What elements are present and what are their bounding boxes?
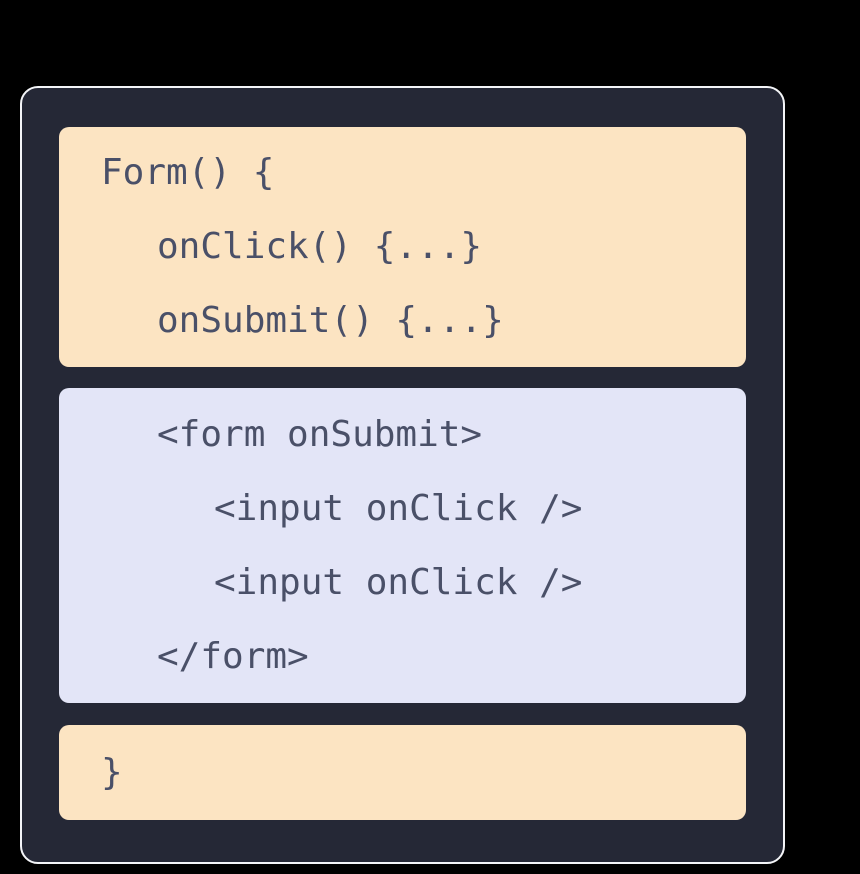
- component-card: Form() { onClick() {...} onSubmit() {...…: [20, 86, 785, 864]
- code-line-form-tag-open: <form onSubmit>: [59, 398, 746, 472]
- code-line-closing-brace: }: [59, 725, 746, 820]
- signature-panel: Form() { onClick() {...} onSubmit() {...…: [59, 127, 746, 367]
- code-line-onsubmit-handler: onSubmit() {...}: [59, 284, 746, 358]
- code-line-input-second: <input onClick />: [59, 546, 746, 620]
- markup-panel: <form onSubmit> <input onClick /> <input…: [59, 388, 746, 703]
- code-line-onclick-handler: onClick() {...}: [59, 210, 746, 284]
- code-line-form-tag-close: </form>: [59, 620, 746, 694]
- closing-panel: }: [59, 725, 746, 820]
- code-line-input-first: <input onClick />: [59, 472, 746, 546]
- page-canvas: Form() { onClick() {...} onSubmit() {...…: [0, 0, 860, 874]
- code-line-form-open: Form() {: [59, 136, 746, 210]
